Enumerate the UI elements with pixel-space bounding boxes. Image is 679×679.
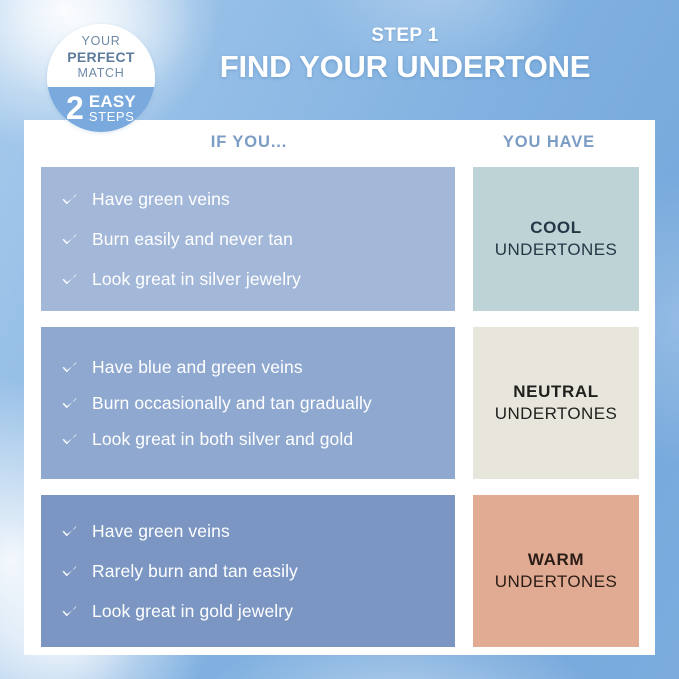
swatch-cool: COOL UNDERTONES — [473, 167, 639, 311]
badge-label-easy: EASY — [89, 93, 136, 110]
page-header: STEP 1 FIND YOUR UNDERTONE — [170, 26, 640, 85]
list-item: Burn occasionally and tan gradually — [61, 385, 437, 421]
list-item-label: Look great in silver jewelry — [92, 268, 301, 290]
badge-line-your: YOUR — [82, 34, 121, 49]
table-row: Have blue and green veins Burn occasiona… — [41, 327, 639, 479]
badge-bottom-section: 2 EASY STEPS — [47, 87, 155, 132]
list-item-label: Have green veins — [92, 520, 230, 542]
check-icon — [61, 431, 78, 448]
badge-line-match: MATCH — [77, 66, 124, 81]
list-item-label: Look great in both silver and gold — [92, 428, 353, 450]
list-item: Have green veins — [61, 511, 437, 551]
check-icon — [61, 231, 78, 248]
list-item: Look great in both silver and gold — [61, 421, 437, 457]
check-icon — [61, 603, 78, 620]
list-item-label: Rarely burn and tan easily — [92, 560, 298, 582]
check-icon — [61, 395, 78, 412]
column-headers: IF YOU... YOU HAVE — [40, 133, 640, 152]
list-item-label: Have blue and green veins — [92, 356, 303, 378]
swatch-title: NEUTRAL — [513, 381, 598, 403]
undertone-infographic: STEP 1 FIND YOUR UNDERTONE YOUR PERFECT … — [0, 0, 679, 679]
badge-step-count: 2 — [66, 92, 84, 124]
swatch-title: WARM — [528, 549, 584, 571]
criteria-cell-cool: Have green veins Burn easily and never t… — [41, 167, 455, 311]
list-item: Rarely burn and tan easily — [61, 551, 437, 591]
undertone-table: Have green veins Burn easily and never t… — [41, 167, 639, 647]
column-header-if-you: IF YOU... — [40, 133, 458, 152]
swatch-title: COOL — [530, 217, 582, 239]
check-icon — [61, 523, 78, 540]
list-item: Look great in silver jewelry — [61, 259, 437, 299]
list-item-label: Burn easily and never tan — [92, 228, 293, 250]
swatch-subtitle: UNDERTONES — [495, 403, 617, 425]
table-row: Have green veins Burn easily and never t… — [41, 167, 639, 311]
check-icon — [61, 563, 78, 580]
list-item: Burn easily and never tan — [61, 219, 437, 259]
page-title: FIND YOUR UNDERTONE — [170, 50, 640, 85]
badge-step-words: EASY STEPS — [89, 93, 136, 124]
swatch-subtitle: UNDERTONES — [495, 239, 617, 261]
table-row: Have green veins Rarely burn and tan eas… — [41, 495, 639, 647]
swatch-warm: WARM UNDERTONES — [473, 495, 639, 647]
step-label: STEP 1 — [170, 26, 640, 47]
check-icon — [61, 271, 78, 288]
badge-top-section: YOUR PERFECT MATCH — [47, 24, 155, 87]
swatch-subtitle: UNDERTONES — [495, 571, 617, 593]
list-item-label: Have green veins — [92, 188, 230, 210]
list-item: Have blue and green veins — [61, 349, 437, 385]
list-item-label: Burn occasionally and tan gradually — [92, 392, 372, 414]
list-item: Look great in gold jewelry — [61, 591, 437, 631]
badge-label-steps: STEPS — [89, 110, 136, 123]
check-icon — [61, 191, 78, 208]
column-header-you-have: YOU HAVE — [458, 133, 640, 152]
criteria-cell-warm: Have green veins Rarely burn and tan eas… — [41, 495, 455, 647]
badge-line-perfect: PERFECT — [67, 49, 134, 66]
check-icon — [61, 359, 78, 376]
criteria-cell-neutral: Have blue and green veins Burn occasiona… — [41, 327, 455, 479]
swatch-neutral: NEUTRAL UNDERTONES — [473, 327, 639, 479]
list-item-label: Look great in gold jewelry — [92, 600, 293, 622]
perfect-match-badge: YOUR PERFECT MATCH 2 EASY STEPS — [47, 24, 155, 132]
list-item: Have green veins — [61, 179, 437, 219]
